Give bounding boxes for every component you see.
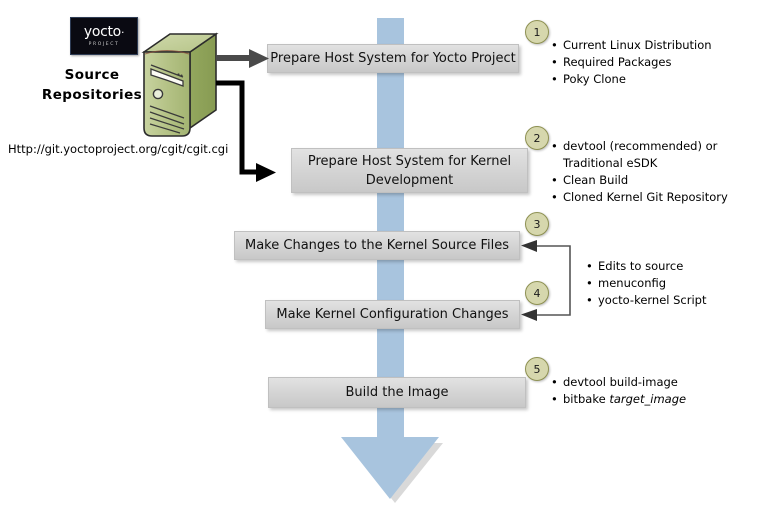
step-badge-4: 4 — [525, 281, 549, 305]
arrow-server-to-step2 — [216, 83, 276, 182]
step-badge-5: 5 — [525, 357, 549, 381]
step-badge-1: 1 — [525, 20, 549, 44]
step-badge-2: 2 — [525, 126, 549, 150]
feedback-loop-bracket — [521, 240, 570, 321]
step-badge-3: 3 — [525, 212, 549, 236]
diagram-canvas: yocto· PROJECT Source Repositories Http:… — [0, 0, 769, 517]
arrow-server-to-step1 — [216, 49, 269, 68]
connector-wires — [0, 0, 769, 517]
